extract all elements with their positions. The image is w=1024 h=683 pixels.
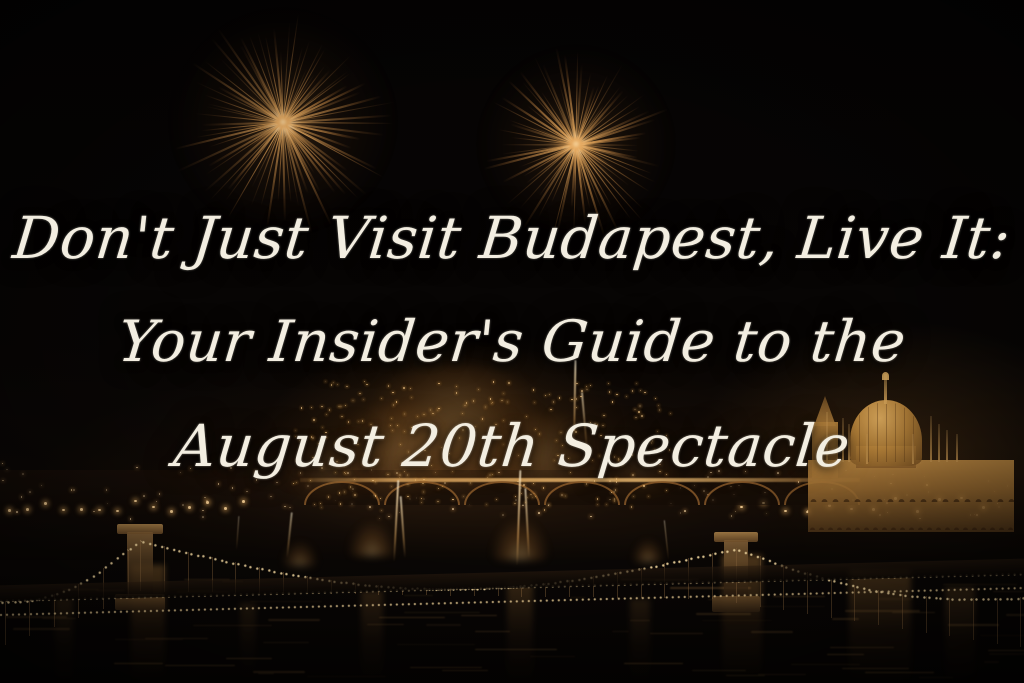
ember-spark [417, 416, 418, 417]
ground-fountain-spark [349, 522, 395, 556]
parliament-lower-arcade [808, 504, 1014, 530]
ember-spark [616, 394, 617, 395]
city-light [16, 511, 18, 513]
water-ripple [226, 658, 271, 659]
ember-spark [669, 449, 670, 450]
ember-spark [295, 436, 296, 437]
ember-spark [514, 503, 515, 504]
ember-spark [392, 392, 393, 393]
ember-spark [438, 383, 439, 384]
ember-spark [608, 383, 609, 384]
firework-spark-cluster [275, 440, 385, 500]
ember-spark [599, 455, 600, 456]
ember-spark [403, 387, 404, 388]
parliament-pinnacle [956, 434, 958, 462]
water-ripple [475, 631, 511, 632]
ember-spark [590, 385, 591, 386]
city-light [230, 467, 232, 469]
ember-spark [392, 430, 393, 431]
ember-spark [634, 409, 635, 410]
bridge-hanger-cable [29, 600, 30, 637]
water-ripple [993, 591, 1024, 592]
bridge-hanger-cable [831, 579, 832, 618]
ember-spark [350, 486, 351, 487]
water-ripple [307, 676, 387, 677]
ember-spark [586, 483, 587, 484]
water-ripple [268, 619, 319, 620]
ember-spark [489, 474, 490, 475]
city-light [502, 514, 504, 516]
water-ripple [397, 644, 476, 645]
ember-spark [655, 398, 656, 399]
water-reflection-streak [630, 599, 650, 683]
water-ripple [13, 628, 70, 629]
ember-spark [320, 503, 321, 504]
ember-spark [594, 423, 595, 424]
ember-spark [331, 384, 332, 385]
ember-spark [575, 431, 576, 432]
ember-spark [424, 450, 425, 451]
ember-spark [399, 474, 400, 475]
city-light [204, 463, 206, 465]
embankment-lamp [224, 507, 227, 510]
city-light [255, 471, 257, 473]
city-light [710, 472, 712, 474]
ember-spark [359, 393, 360, 394]
ember-spark [321, 507, 322, 508]
ember-spark [354, 494, 355, 495]
parliament-pinnacle [930, 416, 932, 462]
ember-spark [348, 421, 349, 422]
ember-spark [295, 430, 296, 431]
ember-spark [560, 432, 561, 433]
water-ripple [692, 670, 746, 671]
ember-spark [594, 480, 595, 481]
embankment-lamp [8, 509, 11, 512]
city-light [182, 504, 184, 506]
hungarian-parliament-building [790, 372, 1024, 532]
ember-spark [325, 381, 326, 382]
city-light [73, 489, 75, 491]
ember-spark [387, 474, 388, 475]
ember-spark [543, 487, 544, 488]
firework-burst-right [480, 48, 672, 240]
ember-spark [311, 407, 312, 408]
parliament-pinnacle [946, 430, 948, 462]
city-light [731, 515, 733, 517]
bridge-cable-lights [973, 598, 986, 601]
ember-spark [553, 401, 554, 402]
water-ripple [943, 584, 1018, 585]
embankment-lamp [80, 508, 83, 511]
ember-spark [364, 381, 365, 382]
ember-spark [609, 391, 610, 392]
water-ripple [751, 631, 793, 632]
ember-spark [344, 465, 345, 466]
ember-spark [638, 411, 639, 412]
ember-spark [381, 510, 382, 511]
ember-spark [352, 400, 353, 401]
city-light [143, 495, 145, 497]
ember-spark [366, 384, 367, 385]
city-light [680, 512, 682, 514]
city-light [22, 473, 24, 475]
ember-spark [539, 433, 540, 434]
parliament-pinnacle [848, 424, 850, 462]
water-ripple [379, 617, 445, 618]
water-ripple [530, 656, 575, 657]
water-ripple [919, 677, 953, 678]
embankment-lamp [188, 506, 191, 509]
ember-spark [326, 414, 327, 415]
city-light [388, 516, 390, 518]
ember-spark [456, 392, 457, 393]
city-light [538, 512, 540, 514]
ember-spark [639, 405, 640, 406]
water-reflection-streak [507, 583, 533, 683]
ember-spark [636, 383, 637, 384]
ember-spark [576, 407, 577, 408]
ember-spark [549, 394, 550, 395]
ember-spark [626, 396, 627, 397]
ember-spark [581, 390, 582, 391]
embankment-lamp [44, 502, 47, 505]
embankment-lamp [62, 509, 65, 512]
embankment-lamp [98, 509, 101, 512]
city-light [159, 493, 161, 495]
water-reflection-streak [55, 597, 73, 683]
city-light [718, 470, 720, 472]
parliament-pinnacle [842, 418, 844, 462]
water-ripple [630, 620, 650, 621]
water-ripple [258, 673, 274, 674]
bridge-hanger-cable [949, 598, 950, 637]
water-ripple [115, 639, 183, 640]
ember-spark [507, 401, 508, 402]
ember-spark [641, 415, 642, 416]
ember-spark [312, 437, 313, 438]
ember-spark [337, 384, 338, 385]
ember-spark [325, 432, 326, 433]
water-ripple [426, 624, 460, 625]
ember-spark [301, 407, 302, 408]
firework-core [568, 137, 584, 151]
ember-spark [580, 396, 581, 397]
parliament-pinnacle [866, 434, 868, 464]
ember-spark [437, 410, 438, 411]
city-light [204, 497, 206, 499]
ember-spark [336, 461, 337, 462]
city-light [202, 516, 204, 518]
ember-spark [438, 408, 439, 409]
ember-spark [508, 382, 509, 383]
margaret-bridge-arch [704, 481, 780, 505]
ember-spark [517, 481, 518, 482]
ember-spark [603, 415, 604, 416]
water-ripple [758, 674, 806, 675]
ember-spark [423, 414, 424, 415]
city-light [2, 463, 4, 465]
ember-spark [667, 439, 668, 440]
ember-spark [411, 427, 412, 428]
ember-spark [643, 485, 644, 486]
ember-spark [322, 427, 323, 428]
ember-spark [485, 406, 486, 407]
ember-spark [423, 479, 424, 480]
ember-spark [602, 425, 603, 426]
parliament-pinnacle [912, 434, 914, 464]
ember-spark [571, 399, 572, 400]
ember-spark [586, 386, 587, 387]
ember-spark [345, 405, 346, 406]
ember-spark [523, 484, 524, 485]
bridge-hanger-cable [926, 596, 927, 632]
water-ripple [980, 635, 1024, 636]
ember-spark [614, 500, 615, 501]
water-ripple [791, 664, 860, 665]
water-ripple [193, 625, 272, 626]
embankment-lamp [170, 510, 173, 513]
ember-spark [561, 494, 562, 495]
bridge-hanger-cable [902, 594, 903, 629]
ember-spark [658, 405, 659, 406]
ember-spark [612, 401, 613, 402]
water-ripple [984, 661, 999, 662]
water-ripple [253, 671, 305, 672]
ember-spark [446, 458, 447, 459]
embankment-lamp [26, 508, 29, 511]
embankment-lamp [134, 500, 137, 503]
bridge-hanger-cable [5, 601, 6, 645]
water-ripple [367, 624, 404, 625]
ember-spark [518, 455, 519, 456]
ember-spark [635, 417, 636, 418]
ember-spark [640, 390, 641, 391]
ember-spark [532, 497, 533, 498]
ember-spark [576, 398, 577, 399]
ember-spark [396, 401, 397, 402]
water-ripple [702, 620, 772, 621]
city-light [284, 506, 286, 508]
ember-spark [659, 409, 660, 410]
ember-spark [329, 409, 330, 410]
ember-spark [597, 424, 598, 425]
ember-spark [495, 424, 496, 425]
ember-spark [586, 389, 587, 390]
water-ripple [696, 613, 752, 614]
ember-spark [632, 474, 633, 475]
firework-core [275, 115, 291, 129]
ember-spark [388, 385, 389, 386]
water-ripple [756, 606, 825, 607]
water-ripple [263, 642, 309, 643]
parliament-spire-tip [882, 372, 889, 380]
ember-spark [631, 454, 632, 455]
city-light [190, 468, 192, 470]
firework-spark-cluster [590, 440, 690, 496]
ember-spark [333, 382, 334, 383]
bridge-hanger-cable [973, 598, 974, 640]
ember-spark [666, 435, 667, 436]
water-ripple [827, 654, 864, 655]
bridge-hanger-cable [878, 590, 879, 625]
ember-spark [657, 431, 658, 432]
ember-spark [530, 494, 531, 495]
ember-spark [491, 403, 492, 404]
water-ripple [878, 598, 913, 599]
ember-spark [346, 386, 347, 387]
water-ripple [404, 595, 433, 596]
ember-spark [472, 438, 473, 439]
ember-spark [576, 383, 577, 384]
ember-spark [404, 413, 405, 414]
ember-spark [545, 395, 546, 396]
ember-spark [313, 419, 314, 420]
ember-spark [616, 478, 617, 479]
ember-spark [621, 463, 622, 464]
bridge-hanger-cable [997, 598, 998, 644]
city-light [289, 507, 291, 509]
ember-spark [299, 440, 300, 441]
ember-spark [321, 406, 322, 407]
ember-spark [421, 502, 422, 503]
water-ripple [989, 653, 1024, 654]
ember-spark [573, 429, 574, 430]
bridge-tower-cap [714, 532, 758, 542]
ember-spark [526, 416, 527, 417]
ember-spark [340, 406, 341, 407]
ember-spark [296, 460, 297, 461]
embankment-lamp [206, 501, 209, 504]
ember-spark [652, 440, 653, 441]
ember-spark [397, 425, 398, 426]
ember-spark [482, 418, 483, 419]
parliament-pinnacle [938, 424, 940, 462]
ember-spark [483, 450, 484, 451]
bridge-hanger-cable [1020, 597, 1021, 647]
embankment-lamp [242, 500, 245, 503]
city-light [136, 467, 138, 469]
ground-fountain-spark [633, 540, 663, 562]
ground-fountain-spark [492, 520, 548, 560]
parliament-upper-arcade [808, 472, 1014, 502]
ground-fountain-spark [283, 542, 317, 566]
firework-burst-left [171, 10, 395, 234]
city-light [21, 496, 23, 498]
city-light [71, 489, 73, 491]
ember-spark [559, 397, 560, 398]
city-light [590, 516, 592, 518]
water-ripple [624, 663, 684, 664]
ember-spark [462, 429, 463, 430]
water-ripple [1006, 614, 1024, 615]
ember-spark [341, 416, 342, 417]
city-light [777, 472, 779, 474]
water-ripple [165, 665, 235, 666]
bridge-tower-cap [117, 524, 163, 534]
water-ripple [650, 633, 702, 634]
ember-spark [632, 390, 633, 391]
ember-spark [670, 413, 671, 414]
ember-spark [618, 458, 619, 459]
water-ripple [865, 672, 934, 673]
ember-spark [356, 438, 357, 439]
ember-spark [590, 422, 591, 423]
water-ripple [410, 667, 482, 668]
ember-spark [473, 400, 474, 401]
parliament-tower-roof [814, 396, 836, 426]
parliament-pinnacle [826, 412, 828, 462]
water-ripple [842, 668, 908, 669]
water-ripple [145, 638, 208, 639]
city-light [29, 491, 31, 493]
ember-spark [644, 392, 645, 393]
fireworks-poster: Don't Just Visit Budapest, Live It: Your… [0, 0, 1024, 683]
